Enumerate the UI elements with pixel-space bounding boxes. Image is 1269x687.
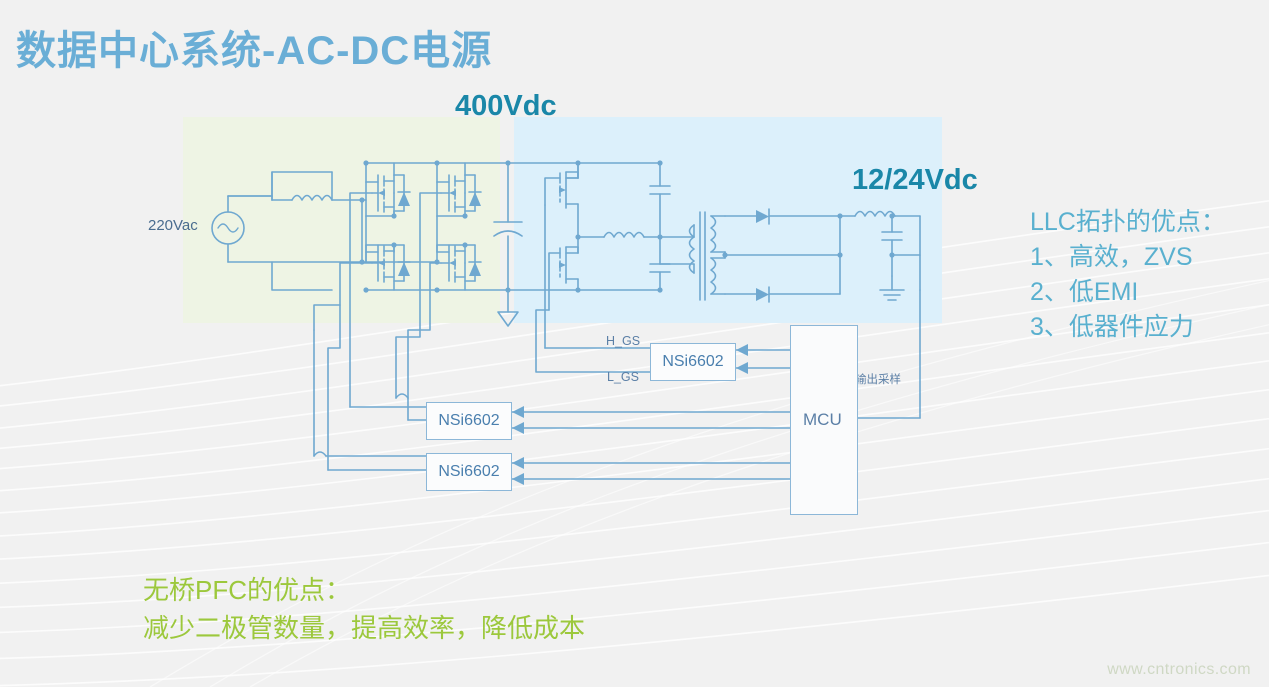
driver-chip-pfc-2: NSi6602 xyxy=(426,453,512,491)
mcu-label: MCU xyxy=(803,410,842,430)
output-sampling-label: 输出采样 xyxy=(855,371,901,387)
high-side-gate-label: H_GS xyxy=(606,334,640,348)
llc-advantage-item-2: 2、低EMI xyxy=(1030,276,1226,309)
llc-advantages-heading: LLC拓扑的优点： xyxy=(1030,206,1226,239)
slide-canvas: 数据中心系统-AC-DC电源 400Vdc 12/24Vdc xyxy=(0,0,1269,687)
low-side-gate-label: L_GS xyxy=(607,370,639,384)
llc-advantage-item-3: 3、低器件应力 xyxy=(1030,311,1226,344)
ac-source-label: 220Vac xyxy=(148,217,198,234)
pfc-advantages-heading: 无桥PFC的优点： xyxy=(143,572,585,610)
driver-chip-llc: NSi6602 xyxy=(650,343,736,381)
pfc-advantages-body: 减少二极管数量，提高效率，降低成本 xyxy=(143,610,585,648)
driver-chip-pfc-1: NSi6602 xyxy=(426,402,512,440)
llc-advantage-item-1: 1、高效，ZVS xyxy=(1030,241,1226,274)
site-watermark: www.cntronics.com xyxy=(1107,661,1251,679)
pfc-advantages-annotation: 无桥PFC的优点： 减少二极管数量，提高效率，降低成本 xyxy=(143,572,585,647)
llc-advantages-annotation: LLC拓扑的优点： 1、高效，ZVS 2、低EMI 3、低器件应力 xyxy=(1030,206,1226,346)
